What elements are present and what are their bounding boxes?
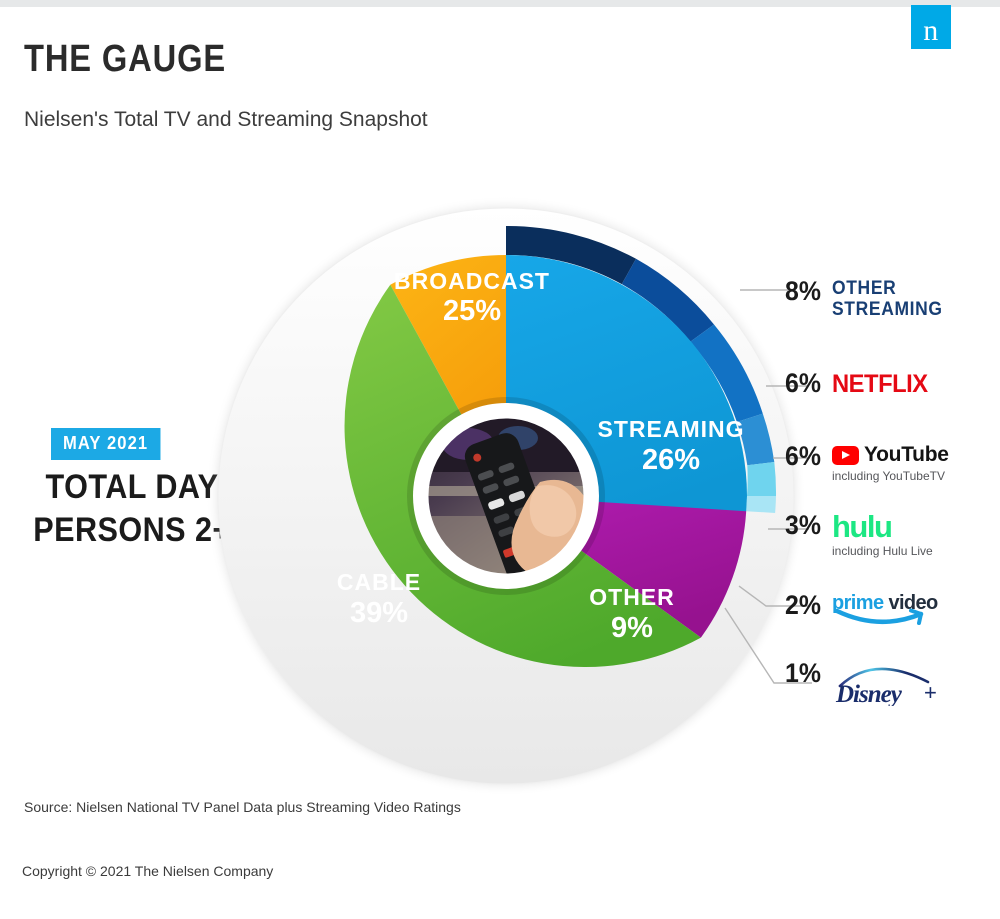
slice-label-broadcast-value: 25% <box>443 295 501 327</box>
brand-label-other-streaming-line2: STREAMING <box>832 299 987 320</box>
legend-row-disney-plus[interactable]: 1% Disney + <box>780 658 1000 702</box>
page-subtitle: Nielsen's Total TV and Streaming Snapsho… <box>24 108 428 132</box>
legend-brand-hulu: hulu including Hulu Live <box>832 510 1000 558</box>
slice-label-cable-name: CABLE <box>337 569 421 595</box>
youtube-logo: YouTube <box>832 443 1000 467</box>
legend-brand-prime-video: prime video <box>832 590 1000 622</box>
legend-sub-youtube: including YouTubeTV <box>832 469 1000 483</box>
disney-plus-logo: Disney + <box>832 660 952 702</box>
legend-pct-hulu: 3% <box>784 510 832 541</box>
slice-label-streaming-value: 26% <box>642 444 700 476</box>
youtube-play-icon <box>832 446 859 465</box>
slice-label-broadcast-name: BROADCAST <box>394 268 550 294</box>
legend-pct-netflix: 6% <box>784 368 832 399</box>
nielsen-logo: n <box>911 5 951 49</box>
legend-sub-hulu: including Hulu Live <box>832 544 1000 558</box>
amazon-smile-arrow-icon <box>835 607 939 629</box>
legend-pct-youtube: 6% <box>784 441 832 472</box>
legend-brand-other-streaming: OTHER STREAMING <box>832 276 1000 320</box>
disney-plus-logo-svg: Disney + <box>832 660 950 706</box>
ring-seg-prime-video <box>747 462 776 496</box>
netflix-logo: NETFLIX <box>832 370 992 399</box>
pie-chart-svg: BROADCAST 25% STREAMING 26% OTHER 9% CAB… <box>196 186 816 806</box>
date-badge: MAY 2021 <box>51 428 160 460</box>
hulu-logo: hulu <box>832 512 1000 542</box>
legend-row-other-streaming[interactable]: 8% OTHER STREAMING <box>780 276 1000 320</box>
slice-label-other-value: 9% <box>611 612 653 644</box>
brand-label-other-streaming-line1: OTHER <box>832 278 987 299</box>
slice-label-cable-value: 39% <box>350 597 408 629</box>
source-note: Source: Nielsen National TV Panel Data p… <box>24 799 461 815</box>
prime-video-logo: prime video <box>832 592 952 622</box>
ring-seg-disney-plus <box>746 496 776 513</box>
top-divider-strip <box>0 0 1000 7</box>
svg-text:+: + <box>924 680 937 705</box>
legend-pct-prime-video: 2% <box>784 590 832 621</box>
slice-label-other-name: OTHER <box>589 584 675 610</box>
legend-brand-disney-plus: Disney + <box>832 658 1000 702</box>
legend-row-hulu[interactable]: 3% hulu including Hulu Live <box>780 510 1000 558</box>
copyright-note: Copyright © 2021 The Nielsen Company <box>22 863 273 879</box>
legend-row-prime-video[interactable]: 2% prime video <box>780 590 1000 622</box>
nielsen-logo-letter: n <box>911 5 951 57</box>
legend-row-youtube[interactable]: 6% YouTube including YouTubeTV <box>780 441 1000 483</box>
pie-chart: BROADCAST 25% STREAMING 26% OTHER 9% CAB… <box>196 186 816 806</box>
legend-pct-disney-plus: 1% <box>784 658 832 689</box>
legend-pct-other-streaming: 8% <box>784 276 832 307</box>
svg-text:Disney: Disney <box>835 681 903 706</box>
youtube-wordmark: YouTube <box>864 443 949 467</box>
legend-brand-youtube: YouTube including YouTubeTV <box>832 441 1000 483</box>
slice-label-streaming-name: STREAMING <box>598 416 745 442</box>
page-title: THE GAUGE <box>24 38 226 81</box>
legend-row-netflix[interactable]: 6% NETFLIX <box>780 368 1000 399</box>
legend-brand-netflix: NETFLIX <box>832 368 1000 399</box>
